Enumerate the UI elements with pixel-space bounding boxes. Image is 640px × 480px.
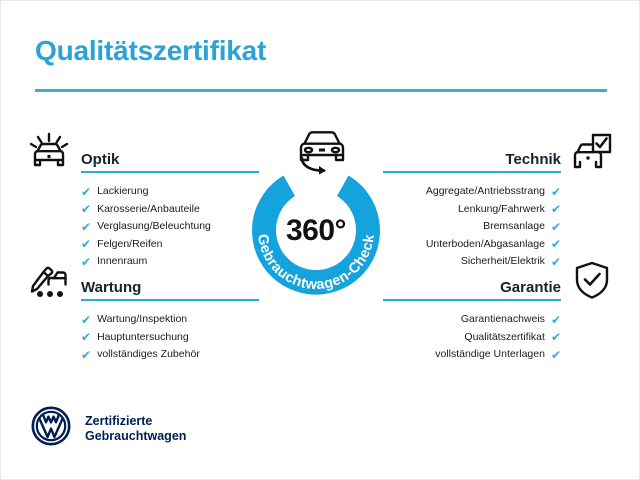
section-header: Wartung <box>81 273 259 299</box>
check-icon: ✔ <box>551 238 561 250</box>
check-icon: ✔ <box>81 256 91 268</box>
list-item-label: Lenkung/Fahrwerk <box>458 201 545 219</box>
section-header: Optik <box>81 145 259 171</box>
section-title: Optik <box>81 151 119 168</box>
check-icon: ✔ <box>81 203 91 215</box>
section-divider <box>81 171 259 173</box>
badge-ring <box>252 176 380 295</box>
check-icon: ✔ <box>81 331 91 343</box>
list-item-label: vollständige Unterlagen <box>435 346 545 364</box>
list-item: ✔Wartung/Inspektion <box>81 311 259 329</box>
footer-brand: Zertifizierte Gebrauchtwagen <box>31 406 186 451</box>
section-divider <box>383 299 561 301</box>
car-rotate-icon <box>291 125 353 180</box>
section-divider <box>81 299 259 301</box>
section-header: Garantie <box>383 273 561 299</box>
check-icon: ✔ <box>551 349 561 361</box>
list-item: ✔Karosserie/Anbauteile <box>81 201 259 219</box>
check-icon: ✔ <box>81 238 91 250</box>
section-technik: Technik ✔Aggregate/Antriebsstrang ✔Lenku… <box>383 145 561 271</box>
page-title: Qualitätszertifikat <box>35 35 266 67</box>
check-icon: ✔ <box>551 314 561 326</box>
list-item: ✔Innenraum <box>81 253 259 271</box>
list-item-label: Wartung/Inspektion <box>97 311 187 329</box>
list-item-label: Lackierung <box>97 183 148 201</box>
list-item: ✔Lackierung <box>81 183 259 201</box>
shield-check-icon <box>573 260 611 305</box>
list-item-label: Sicherheit/Elektrik <box>461 253 545 271</box>
list-item-label: Garantienachweis <box>461 311 545 329</box>
list-item: ✔Bremsanlage <box>383 218 561 236</box>
footer-line-1: Zertifizierte <box>85 414 186 429</box>
section-divider <box>383 171 561 173</box>
car-shine-icon <box>27 132 71 177</box>
checklist: ✔Lackierung ✔Karosserie/Anbauteile ✔Verg… <box>81 183 259 271</box>
section-garantie: Garantie ✔Garantienachweis ✔Qualitätszer… <box>383 273 561 364</box>
car-checkbox-icon <box>569 132 613 177</box>
list-item-label: Hauptuntersuchung <box>97 329 189 347</box>
list-item: ✔vollständiges Zubehör <box>81 346 259 364</box>
check-icon: ✔ <box>81 221 91 233</box>
car-service-pen-icon <box>27 260 71 305</box>
list-item: ✔Hauptuntersuchung <box>81 329 259 347</box>
checklist: ✔Wartung/Inspektion ✔Hauptuntersuchung ✔… <box>81 311 259 364</box>
section-title: Technik <box>505 151 561 168</box>
footer-text: Zertifizierte Gebrauchtwagen <box>85 414 186 444</box>
vw-logo <box>31 406 71 451</box>
list-item: ✔Verglasung/Beleuchtung <box>81 218 259 236</box>
list-item-label: Qualitätszertifikat <box>464 329 545 347</box>
list-item-label: Unterboden/Abgasanlage <box>426 236 545 254</box>
section-header: Technik <box>383 145 561 171</box>
section-title: Garantie <box>500 279 561 296</box>
check-icon: ✔ <box>551 221 561 233</box>
list-item: ✔Unterboden/Abgasanlage <box>383 236 561 254</box>
list-item-label: Verglasung/Beleuchtung <box>97 218 211 236</box>
list-item-label: Bremsanlage <box>483 218 545 236</box>
section-title: Wartung <box>81 279 141 296</box>
list-item: ✔Garantienachweis <box>383 311 561 329</box>
footer-line-2: Gebrauchtwagen <box>85 429 186 444</box>
check-icon: ✔ <box>81 314 91 326</box>
check-icon: ✔ <box>81 186 91 198</box>
list-item: ✔Aggregate/Antriebsstrang <box>383 183 561 201</box>
check-icon: ✔ <box>551 186 561 198</box>
check-icon: ✔ <box>551 331 561 343</box>
list-item-label: Aggregate/Antriebsstrang <box>426 183 545 201</box>
section-wartung: Wartung ✔Wartung/Inspektion ✔Hauptunters… <box>81 273 259 364</box>
list-item: ✔Sicherheit/Elektrik <box>383 253 561 271</box>
certificate-page: Qualitätszertifikat <box>0 0 640 480</box>
check-icon: ✔ <box>551 203 561 215</box>
title-divider <box>35 89 607 92</box>
list-item: ✔Qualitätszertifikat <box>383 329 561 347</box>
check-icon: ✔ <box>81 349 91 361</box>
list-item-label: Karosserie/Anbauteile <box>97 201 200 219</box>
list-item-label: Felgen/Reifen <box>97 236 162 254</box>
section-optik: Optik ✔Lackierung ✔Karosserie/Anbauteile… <box>81 145 259 271</box>
list-item: ✔vollständige Unterlagen <box>383 346 561 364</box>
list-item-label: vollständiges Zubehör <box>97 346 200 364</box>
checklist: ✔Aggregate/Antriebsstrang ✔Lenkung/Fahrw… <box>383 183 561 271</box>
list-item-label: Innenraum <box>97 253 147 271</box>
list-item: ✔Lenkung/Fahrwerk <box>383 201 561 219</box>
check-icon: ✔ <box>551 256 561 268</box>
checklist: ✔Garantienachweis ✔Qualitätszertifikat ✔… <box>383 311 561 364</box>
list-item: ✔Felgen/Reifen <box>81 236 259 254</box>
